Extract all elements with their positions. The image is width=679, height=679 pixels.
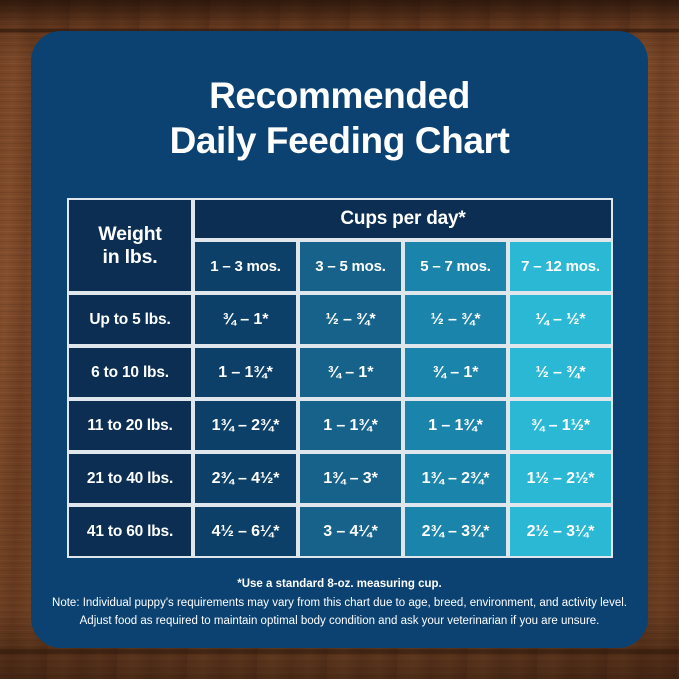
feeding-amount-cell: ¾ – 1*: [298, 346, 403, 399]
table-row: 6 to 10 lbs. 1 – 1¾* ¾ – 1* ¾ – 1* ½ – ¾…: [67, 346, 613, 399]
weight-column-header: Weight in lbs.: [67, 198, 193, 293]
cups-per-day-header: Cups per day*: [193, 198, 613, 240]
weight-header-line-1: Weight: [98, 223, 161, 245]
feeding-amount-cell: 1½ – 2½*: [508, 452, 613, 505]
age-column-header-2: 3 – 5 mos.: [298, 240, 403, 293]
feeding-amount-cell: ¾ – 1*: [193, 293, 298, 346]
table-row: 21 to 40 lbs. 2¾ – 4½* 1¾ – 3* 1¾ – 2¾* …: [67, 452, 613, 505]
weight-label: 6 to 10 lbs.: [67, 346, 193, 399]
footnote-adjust: Adjust food as required to maintain opti…: [31, 612, 648, 630]
feeding-amount-cell: ½ – ¾*: [508, 346, 613, 399]
feeding-amount-cell: 1¾ – 2¾*: [193, 399, 298, 452]
table-header-row-primary: Weight in lbs. Cups per day*: [67, 198, 613, 240]
page-title: Recommended Daily Feeding Chart: [31, 73, 648, 163]
footnote-note: Note: Individual puppy's requirements ma…: [31, 594, 648, 612]
feeding-amount-cell: 1¾ – 2¾*: [403, 452, 508, 505]
footnotes: *Use a standard 8-oz. measuring cup. Not…: [31, 576, 648, 630]
weight-label: 11 to 20 lbs.: [67, 399, 193, 452]
feeding-amount-cell: 2¾ – 4½*: [193, 452, 298, 505]
feeding-amount-cell: ¾ – 1½*: [508, 399, 613, 452]
age-column-header-3: 5 – 7 mos.: [403, 240, 508, 293]
page-title-line-1: Recommended: [31, 73, 648, 118]
age-column-header-4: 7 – 12 mos.: [508, 240, 613, 293]
feeding-table: Weight in lbs. Cups per day* 1 – 3 mos. …: [67, 198, 613, 558]
feeding-amount-cell: ½ – ¾*: [298, 293, 403, 346]
feeding-amount-cell: ¾ – 1*: [403, 346, 508, 399]
weight-label: Up to 5 lbs.: [67, 293, 193, 346]
feeding-amount-cell: ½ – ¾*: [403, 293, 508, 346]
feeding-amount-cell: 2½ – 3¼*: [508, 505, 613, 558]
feeding-amount-cell: 2¾ – 3¾*: [403, 505, 508, 558]
feeding-amount-cell: 1 – 1¾*: [298, 399, 403, 452]
feeding-amount-cell: 4½ – 6¼*: [193, 505, 298, 558]
feeding-amount-cell: 1 – 1¾*: [193, 346, 298, 399]
footnote-measuring-cup: *Use a standard 8-oz. measuring cup.: [31, 576, 648, 594]
table-row: Up to 5 lbs. ¾ – 1* ½ – ¾* ½ – ¾* ¼ – ½*: [67, 293, 613, 346]
age-column-header-1: 1 – 3 mos.: [193, 240, 298, 293]
feeding-amount-cell: 3 – 4¼*: [298, 505, 403, 558]
page-title-line-2: Daily Feeding Chart: [31, 118, 648, 163]
feeding-amount-cell: 1¾ – 3*: [298, 452, 403, 505]
weight-label: 41 to 60 lbs.: [67, 505, 193, 558]
weight-label: 21 to 40 lbs.: [67, 452, 193, 505]
feeding-chart-card: Recommended Daily Feeding Chart Weight i…: [31, 31, 648, 648]
feeding-amount-cell: ¼ – ½*: [508, 293, 613, 346]
feeding-amount-cell: 1 – 1¾*: [403, 399, 508, 452]
table-row: 41 to 60 lbs. 4½ – 6¼* 3 – 4¼* 2¾ – 3¾* …: [67, 505, 613, 558]
table-row: 11 to 20 lbs. 1¾ – 2¾* 1 – 1¾* 1 – 1¾* ¾…: [67, 399, 613, 452]
weight-header-line-2: in lbs.: [103, 246, 158, 268]
